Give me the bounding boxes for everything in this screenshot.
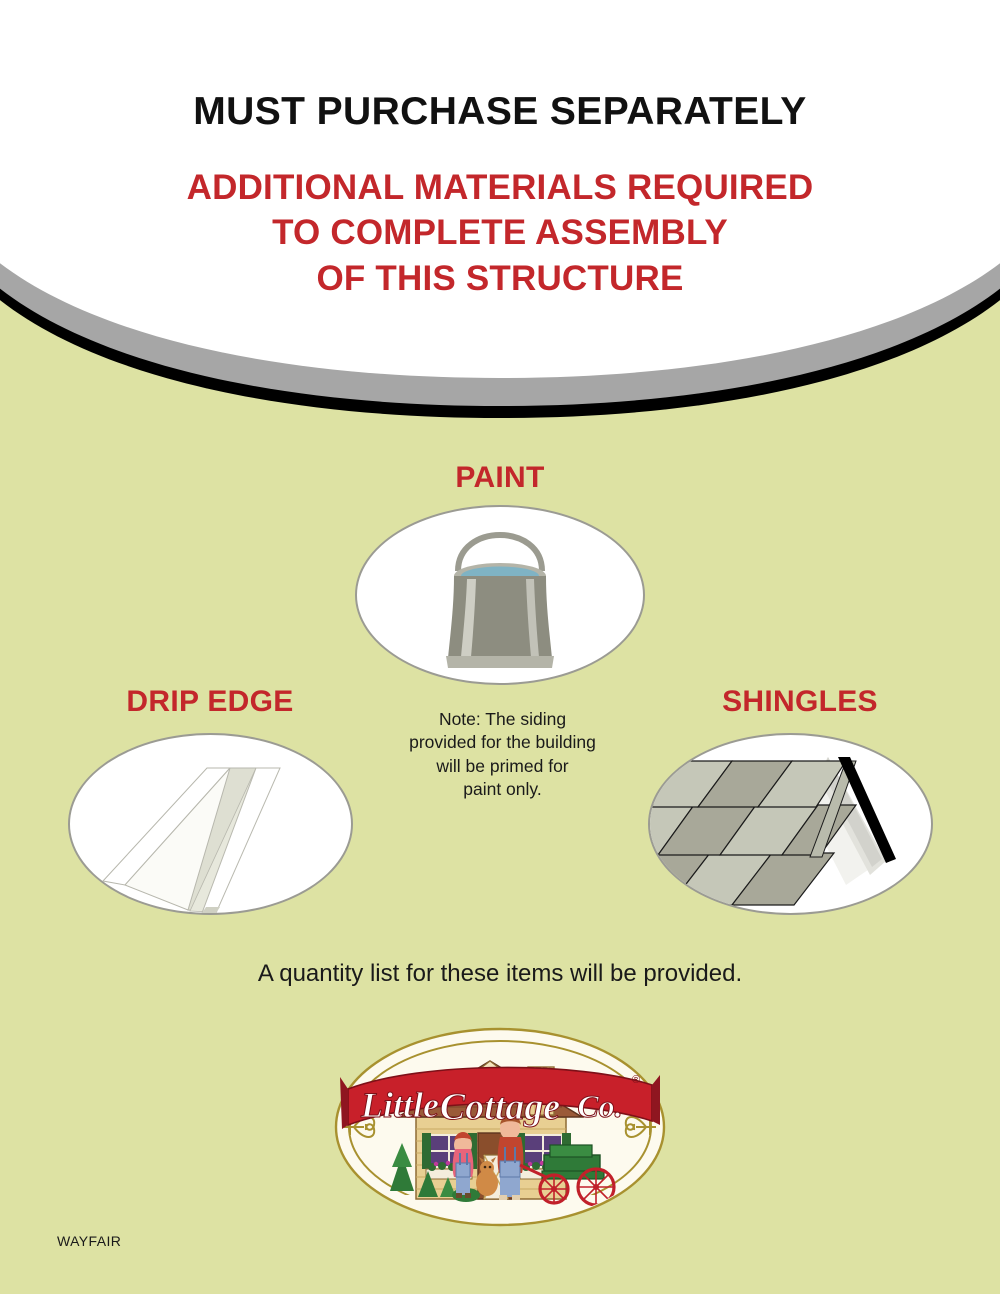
logo-word-little: Little [360,1085,439,1125]
paint-note-line-4: paint only. [370,778,635,801]
drip-edge-image-card [68,733,353,915]
header-subtitle-line-2: TO COMPLETE ASSEMBLY [0,210,1000,256]
wayfair-watermark: WAYFAIR [57,1233,121,1249]
shingles-section-heading: SHINGLES [640,685,960,719]
quantity-note: A quantity list for these items will be … [0,960,1000,988]
little-cottage-co-logo: Little Cottage Co. ® [332,1025,668,1230]
paint-note-line-3: will be primed for [370,755,635,778]
logo-word-cottage: Cottage [440,1086,560,1128]
logo-word-co: Co. [577,1088,622,1124]
paint-bucket-icon [357,507,643,683]
header-subtitle-line-1: ADDITIONAL MATERIALS REQUIRED [0,165,1000,211]
paint-section-heading: PAINT [0,461,1000,495]
paint-note-line-2: provided for the building [370,731,635,754]
logo-registered-mark: ® [632,1074,640,1086]
page-title: MUST PURCHASE SEPARATELY [0,0,1000,133]
header-text-block: MUST PURCHASE SEPARATELY ADDITIONAL MATE… [0,0,1000,301]
paint-note-line-1: Note: The siding [370,708,635,731]
drip-edge-section-heading: DRIP EDGE [60,685,360,719]
header-subtitle-line-3: OF THIS STRUCTURE [0,256,1000,302]
paint-note: Note: The siding provided for the buildi… [370,708,635,801]
shingles-roof-icon [650,735,931,913]
drip-edge-icon [70,735,351,913]
shingles-image-card [648,733,933,915]
paint-image-card [355,505,645,685]
header-subtitle: ADDITIONAL MATERIALS REQUIRED TO COMPLET… [0,133,1000,302]
